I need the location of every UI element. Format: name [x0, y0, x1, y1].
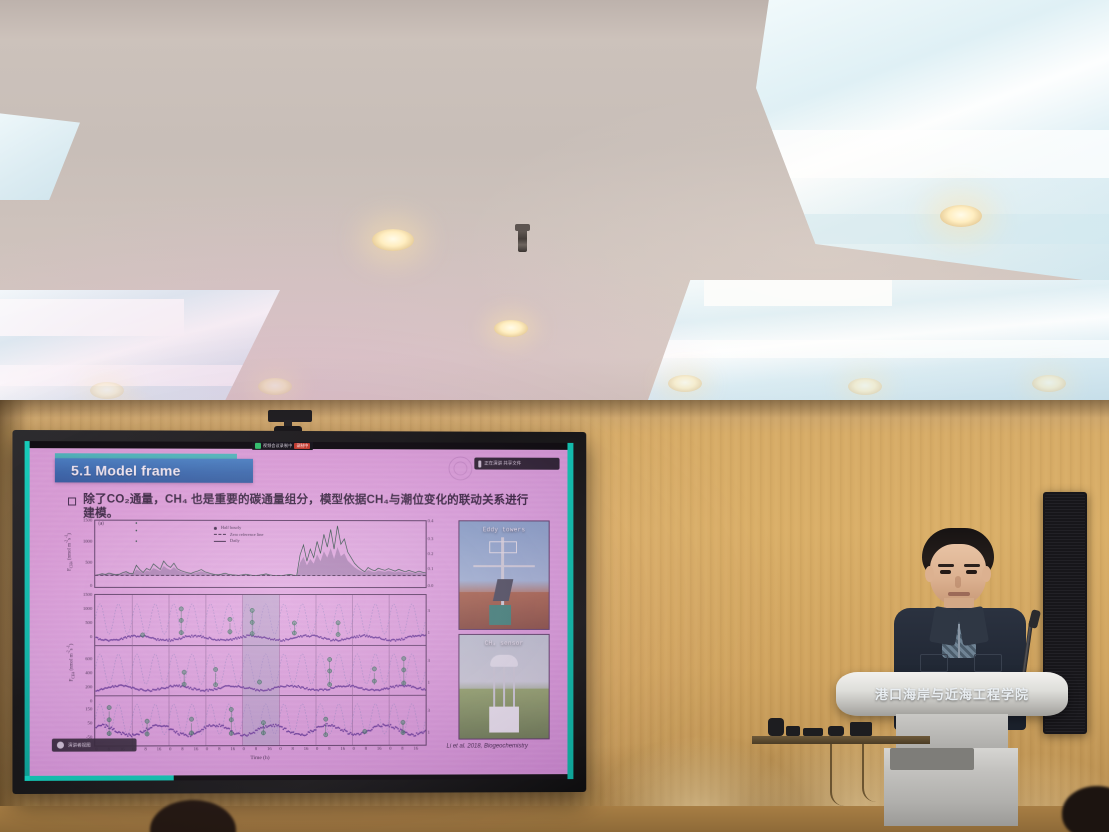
slide-glare — [30, 447, 568, 776]
equipment-item — [803, 728, 823, 736]
screen-edge-artifact-right — [567, 443, 573, 779]
screen-edge-artifact-bottom — [25, 775, 174, 781]
presenter-mouth — [948, 592, 970, 596]
ceiling-downlight — [258, 378, 292, 395]
lecture-hall-scene: 5.1 Model frame 正在演讲 共享文件 除了CO₂通量，CH₄ 也是… — [0, 0, 1109, 832]
presenter-eye — [966, 570, 977, 574]
presentation-display[interactable]: 5.1 Model frame 正在演讲 共享文件 除了CO₂通量，CH₄ 也是… — [12, 430, 586, 794]
equipment-ledge — [752, 736, 930, 744]
podium-laptop[interactable] — [890, 748, 974, 770]
screen-record-icon — [255, 442, 261, 448]
ceiling-downlight — [90, 382, 124, 399]
ceiling-downlight — [494, 320, 528, 337]
ceiling-downlight — [940, 205, 982, 227]
wall-top-shadow — [0, 400, 1109, 418]
screen-edge-artifact-left — [25, 441, 30, 781]
display-screen[interactable]: 5.1 Model frame 正在演讲 共享文件 除了CO₂通量，CH₄ 也是… — [25, 441, 574, 781]
presenter-eye — [940, 570, 951, 574]
recording-badge[interactable]: 视频会议录制中 录制中 — [252, 441, 313, 450]
equipment-item — [786, 726, 800, 736]
presenter-nose — [955, 576, 961, 588]
podium-column — [896, 714, 1008, 750]
podium-institution-label: 港口海岸与近海工程学院 — [836, 684, 1068, 703]
equipment-item — [828, 726, 844, 736]
presenter-eyebrow — [964, 564, 980, 567]
equipment-item — [850, 722, 872, 736]
ceiling-downlight — [1032, 375, 1066, 392]
presenter-eyebrow — [938, 564, 954, 567]
power-cable — [862, 744, 882, 802]
presenter-ear — [982, 566, 991, 582]
presenter-face — [930, 544, 986, 606]
ceiling-downlight — [668, 375, 702, 392]
presenter-zipper — [958, 624, 960, 658]
power-cable — [830, 744, 858, 806]
presenter-pocket — [974, 654, 1002, 672]
sprinkler-head — [518, 228, 527, 252]
recording-tag: 录制中 — [294, 442, 310, 448]
ceiling-downlight — [848, 378, 882, 395]
camera-equipment — [768, 718, 784, 736]
presenter-ear — [925, 566, 934, 582]
ceiling-downlight — [372, 229, 414, 251]
slide-surface[interactable]: 5.1 Model frame 正在演讲 共享文件 除了CO₂通量，CH₄ 也是… — [30, 447, 568, 776]
recording-label: 视频会议录制中 — [263, 442, 292, 448]
presenter-pocket — [920, 654, 948, 672]
ceiling — [0, 0, 1109, 420]
podium: 港口海岸与近海工程学院 — [836, 672, 1068, 724]
